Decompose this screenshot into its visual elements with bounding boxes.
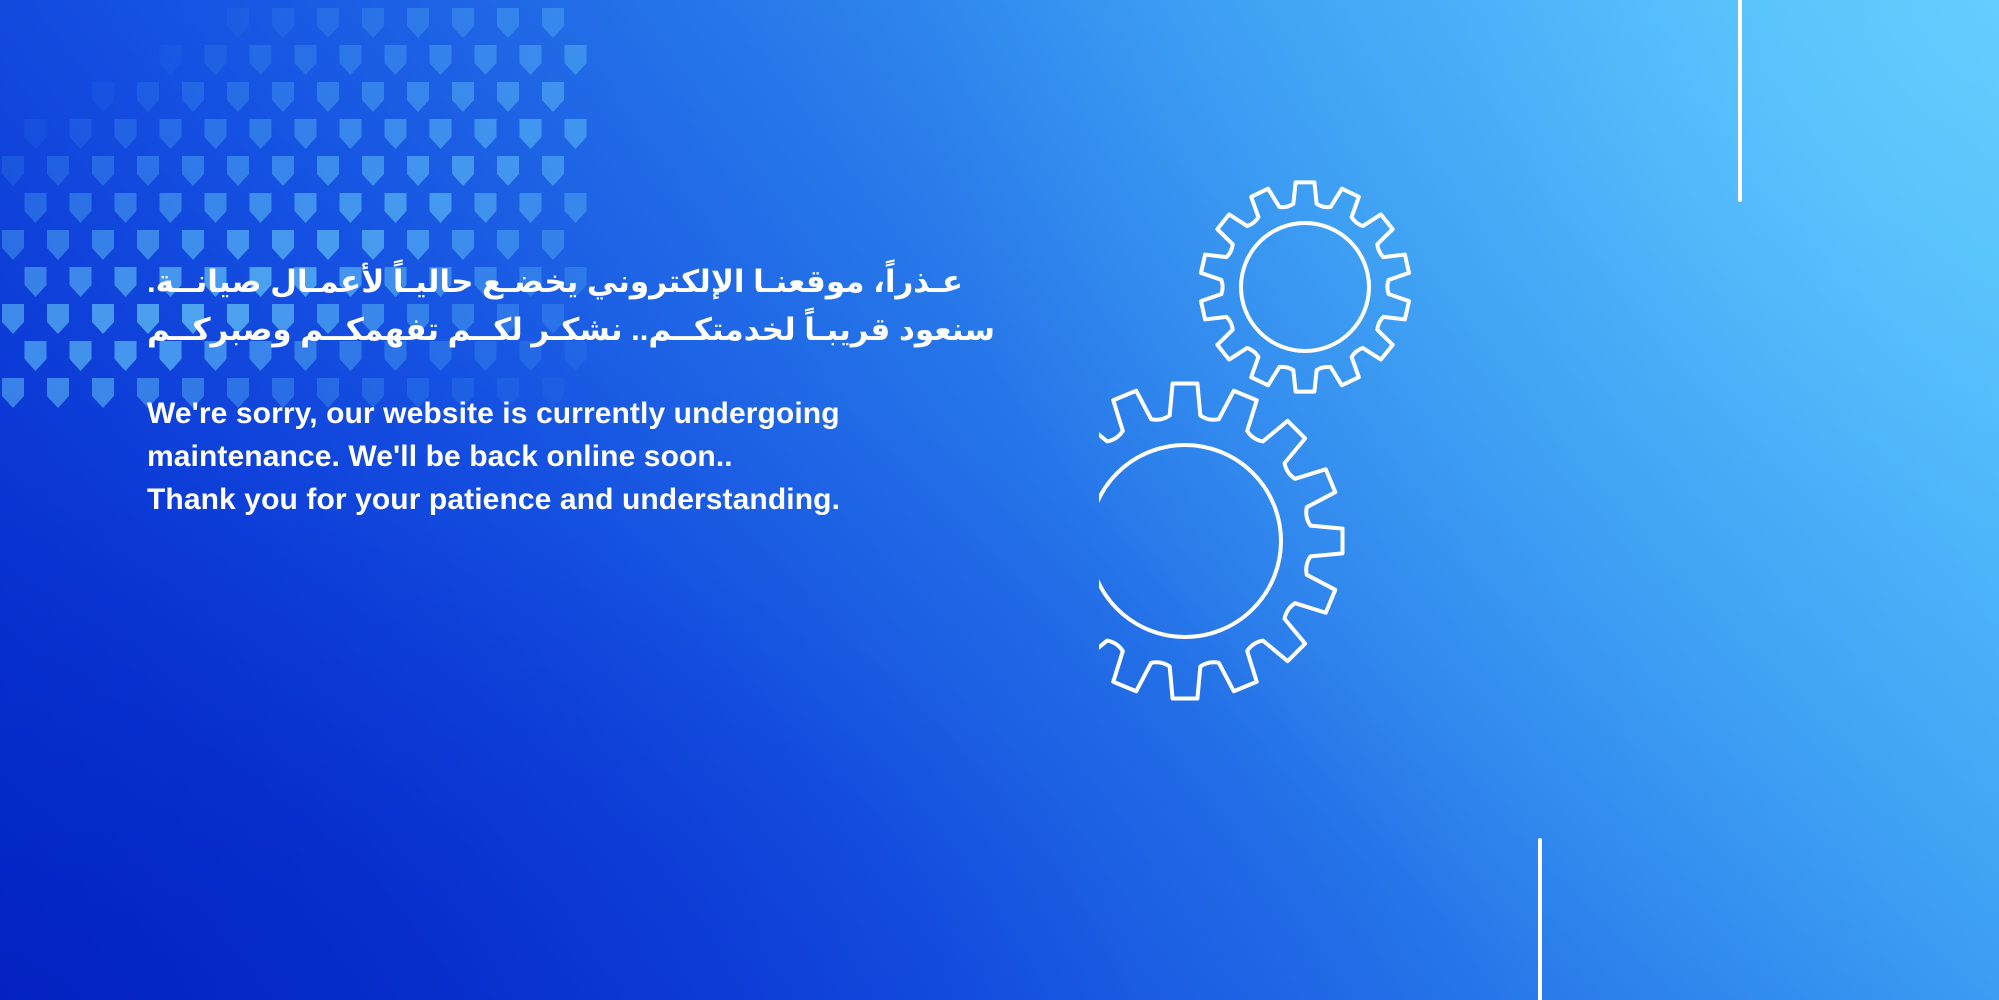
english-line-2: maintenance. We'll be back online soon.. [147,435,1127,478]
arabic-line-1: عـذراً، موقعنـا الإلكتروني يخضـع حاليـاً… [147,258,1127,306]
maintenance-page: عـذراً، موقعنـا الإلكتروني يخضـع حاليـاً… [0,0,1999,1000]
english-line-1: We're sorry, our website is currently un… [147,392,1127,435]
arabic-line-2: سنعود قريبـاً لخدمتكــم.. نشكـر لكــم تف… [147,306,1127,354]
english-line-3: Thank you for your patience and understa… [147,478,1127,521]
message-content: عـذراً، موقعنـا الإلكتروني يخضـع حاليـاً… [147,258,1127,521]
arabic-message: عـذراً، موقعنـا الإلكتروني يخضـع حاليـاً… [147,258,1127,354]
english-message: We're sorry, our website is currently un… [147,392,1127,521]
